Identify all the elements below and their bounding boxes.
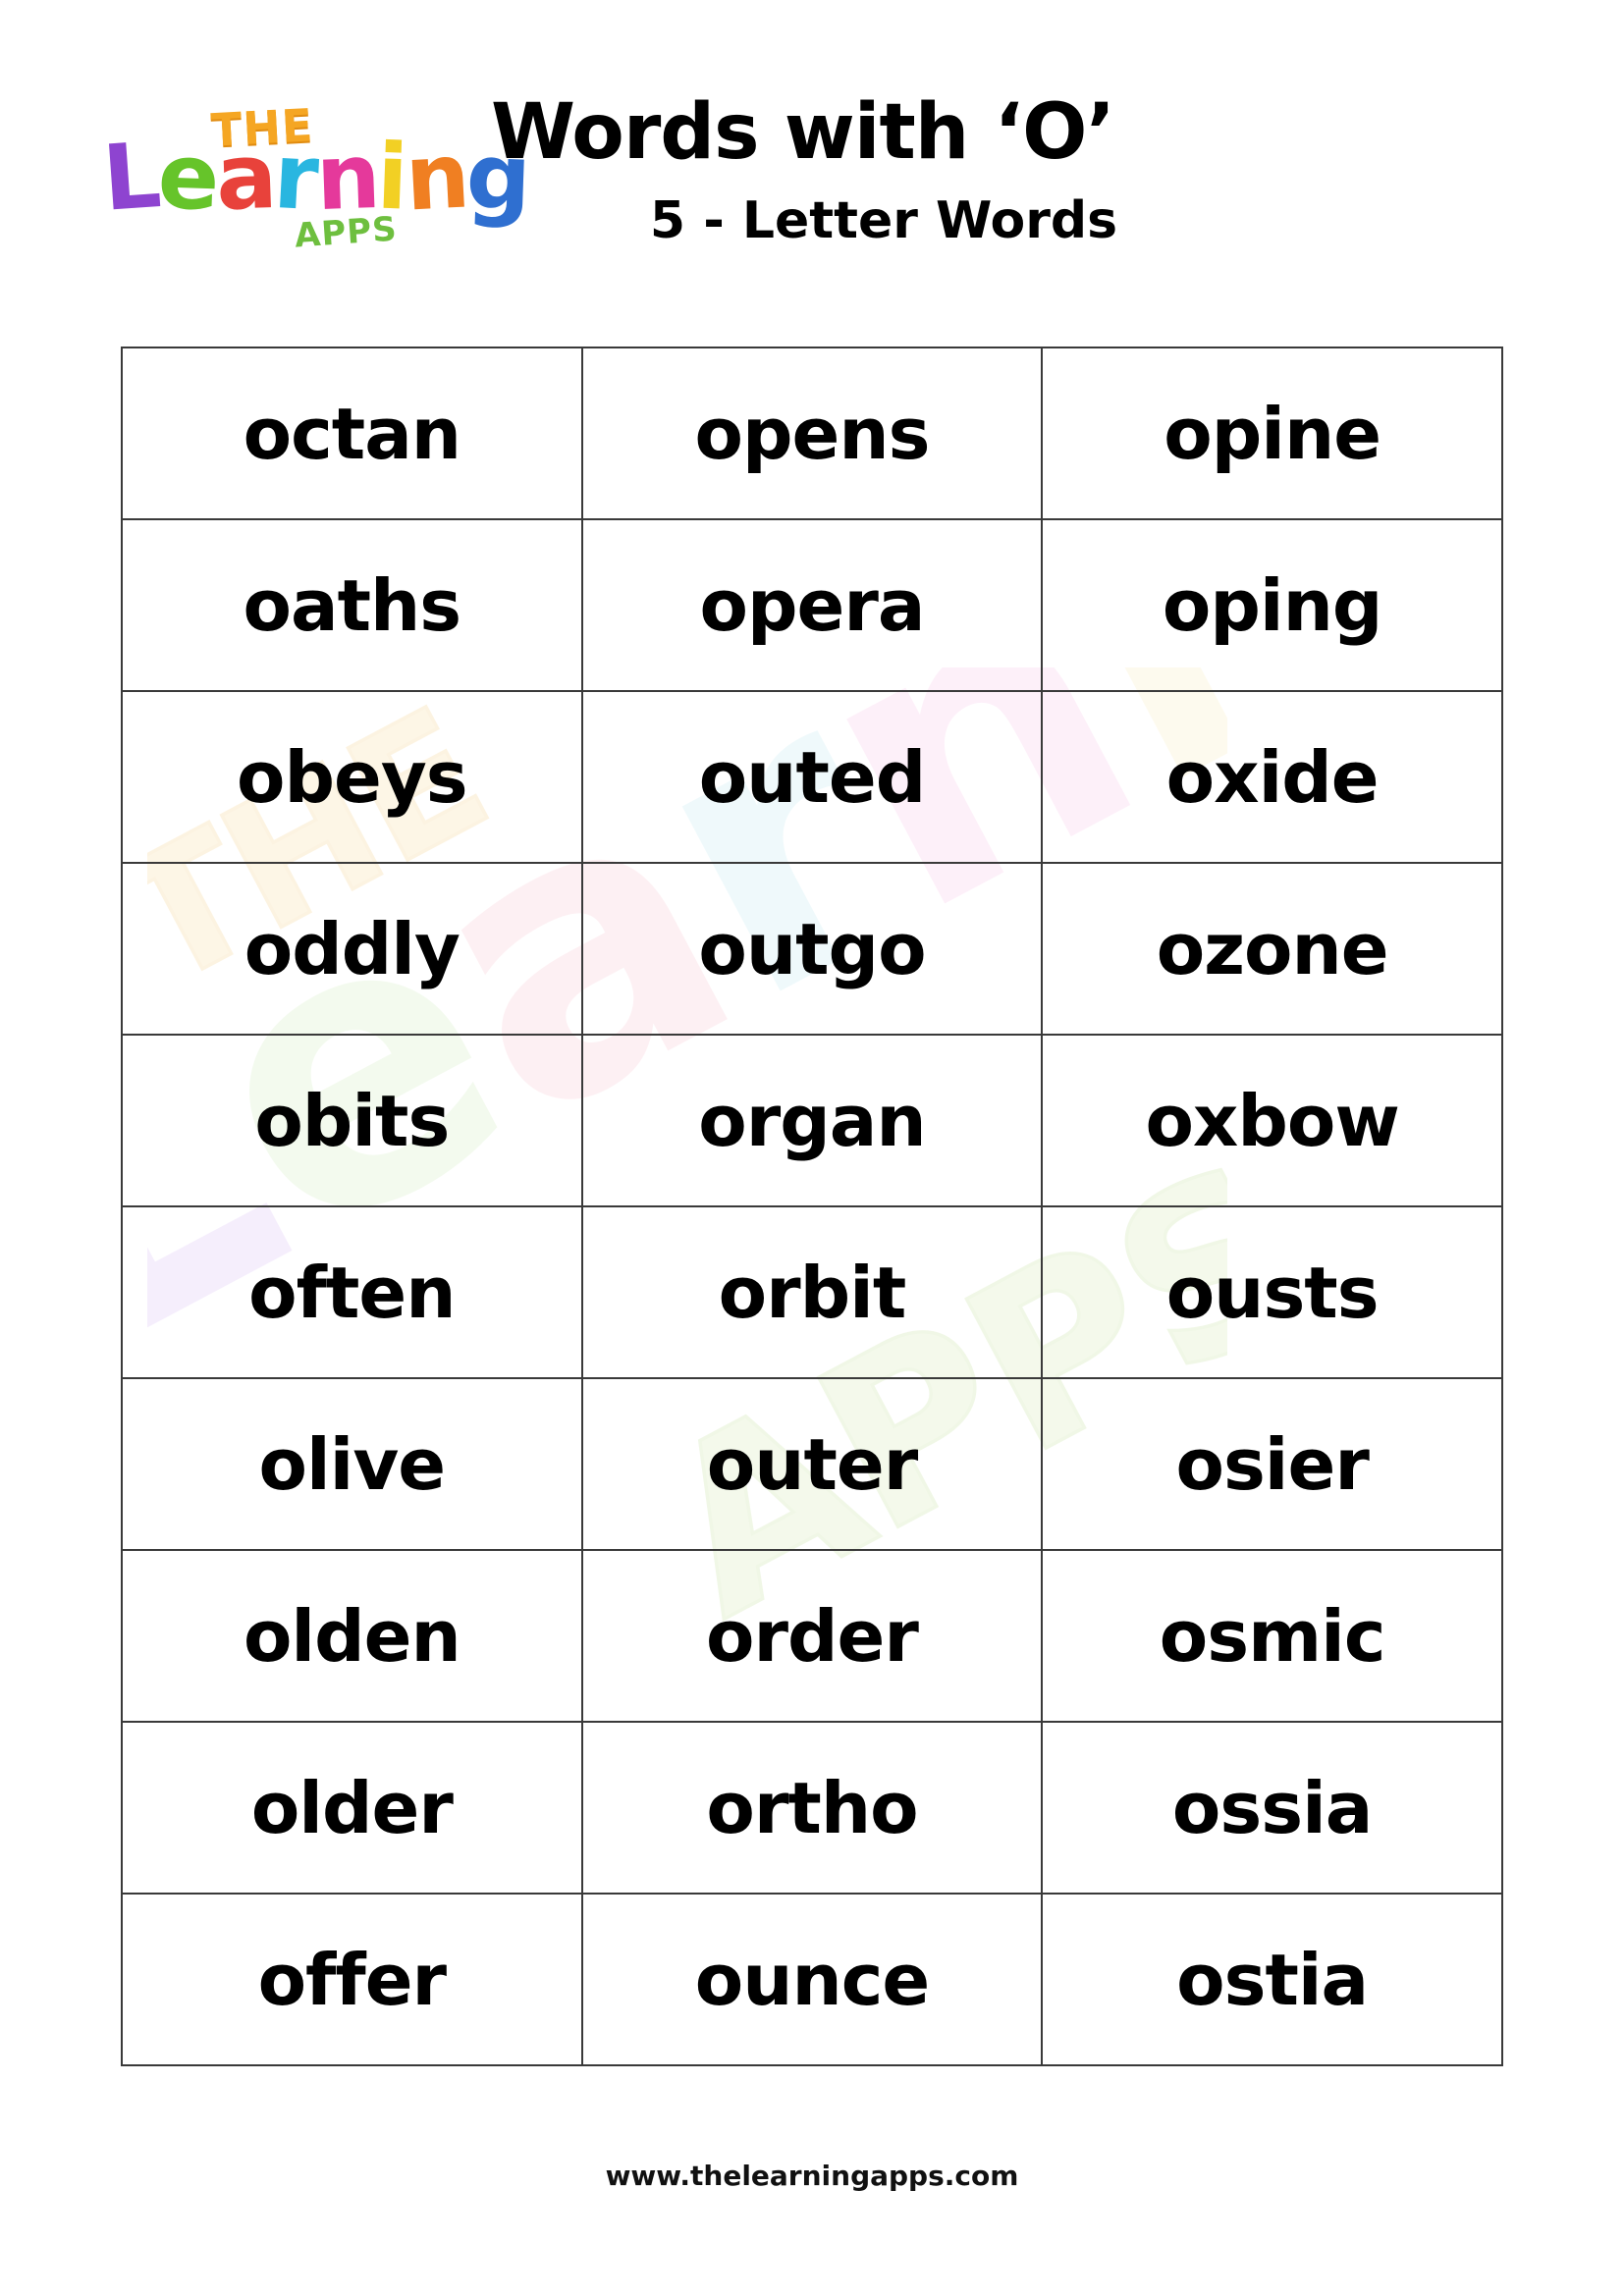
table-row: offer ounce ostia (122, 1894, 1502, 2065)
table-row: obeys outed oxide (122, 691, 1502, 863)
word-cell: oddly (122, 863, 582, 1035)
table-row: often orbit ousts (122, 1206, 1502, 1378)
logo-letter-r: r (272, 132, 318, 224)
word-cell: octan (122, 347, 582, 519)
table-row: oaths opera oping (122, 519, 1502, 691)
word-table-body: octan opens opine oaths opera oping obey… (122, 347, 1502, 2065)
word-cell: oping (1042, 519, 1502, 691)
logo-apps-text: APPS (294, 209, 399, 255)
table-row: olden order osmic (122, 1550, 1502, 1722)
thelearningapps-logo: THE Learning APPS (98, 103, 452, 260)
word-cell: older (122, 1722, 582, 1894)
word-cell: osier (1042, 1378, 1502, 1550)
word-cell: often (122, 1206, 582, 1378)
word-cell: oxbow (1042, 1035, 1502, 1206)
word-cell: ozone (1042, 863, 1502, 1035)
word-cell: ostia (1042, 1894, 1502, 2065)
word-cell: orbit (582, 1206, 1043, 1378)
word-cell: ounce (582, 1894, 1043, 2065)
logo-letter-l: L (100, 131, 161, 225)
word-cell: organ (582, 1035, 1043, 1206)
word-cell: obeys (122, 691, 582, 863)
page-subtitle: 5 - Letter Words (432, 191, 1335, 250)
word-cell: ossia (1042, 1722, 1502, 1894)
logo-letter-e: e (156, 132, 218, 224)
word-cell: obits (122, 1035, 582, 1206)
table-row: obits organ oxbow (122, 1035, 1502, 1206)
word-cell: offer (122, 1894, 582, 2065)
word-cell: oxide (1042, 691, 1502, 863)
logo-letter-a: a (214, 132, 275, 224)
word-cell: outed (582, 691, 1043, 863)
word-cell: olive (122, 1378, 582, 1550)
word-cell: opine (1042, 347, 1502, 519)
word-cell: outer (582, 1378, 1043, 1550)
word-cell: olden (122, 1550, 582, 1722)
page-title: Words with ‘O’ (491, 93, 1276, 174)
word-cell: opera (582, 519, 1043, 691)
worksheet-page: THE Learning APPS THE Learning APPS Word… (0, 0, 1624, 2296)
word-cell: order (582, 1550, 1043, 1722)
logo-letter-n: n (314, 132, 379, 224)
footer-url[interactable]: www.thelearningapps.com (0, 2160, 1624, 2192)
word-list-table: octan opens opine oaths opera oping obey… (121, 347, 1503, 2066)
word-cell: ortho (582, 1722, 1043, 1894)
table-row: octan opens opine (122, 347, 1502, 519)
page-header: THE Learning APPS Words with ‘O’ 5 - Let… (0, 93, 1624, 290)
word-cell: oaths (122, 519, 582, 691)
table-row: olive outer osier (122, 1378, 1502, 1550)
word-cell: ousts (1042, 1206, 1502, 1378)
word-cell: osmic (1042, 1550, 1502, 1722)
word-cell: outgo (582, 863, 1043, 1035)
table-row: older ortho ossia (122, 1722, 1502, 1894)
word-cell: opens (582, 347, 1043, 519)
table-row: oddly outgo ozone (122, 863, 1502, 1035)
